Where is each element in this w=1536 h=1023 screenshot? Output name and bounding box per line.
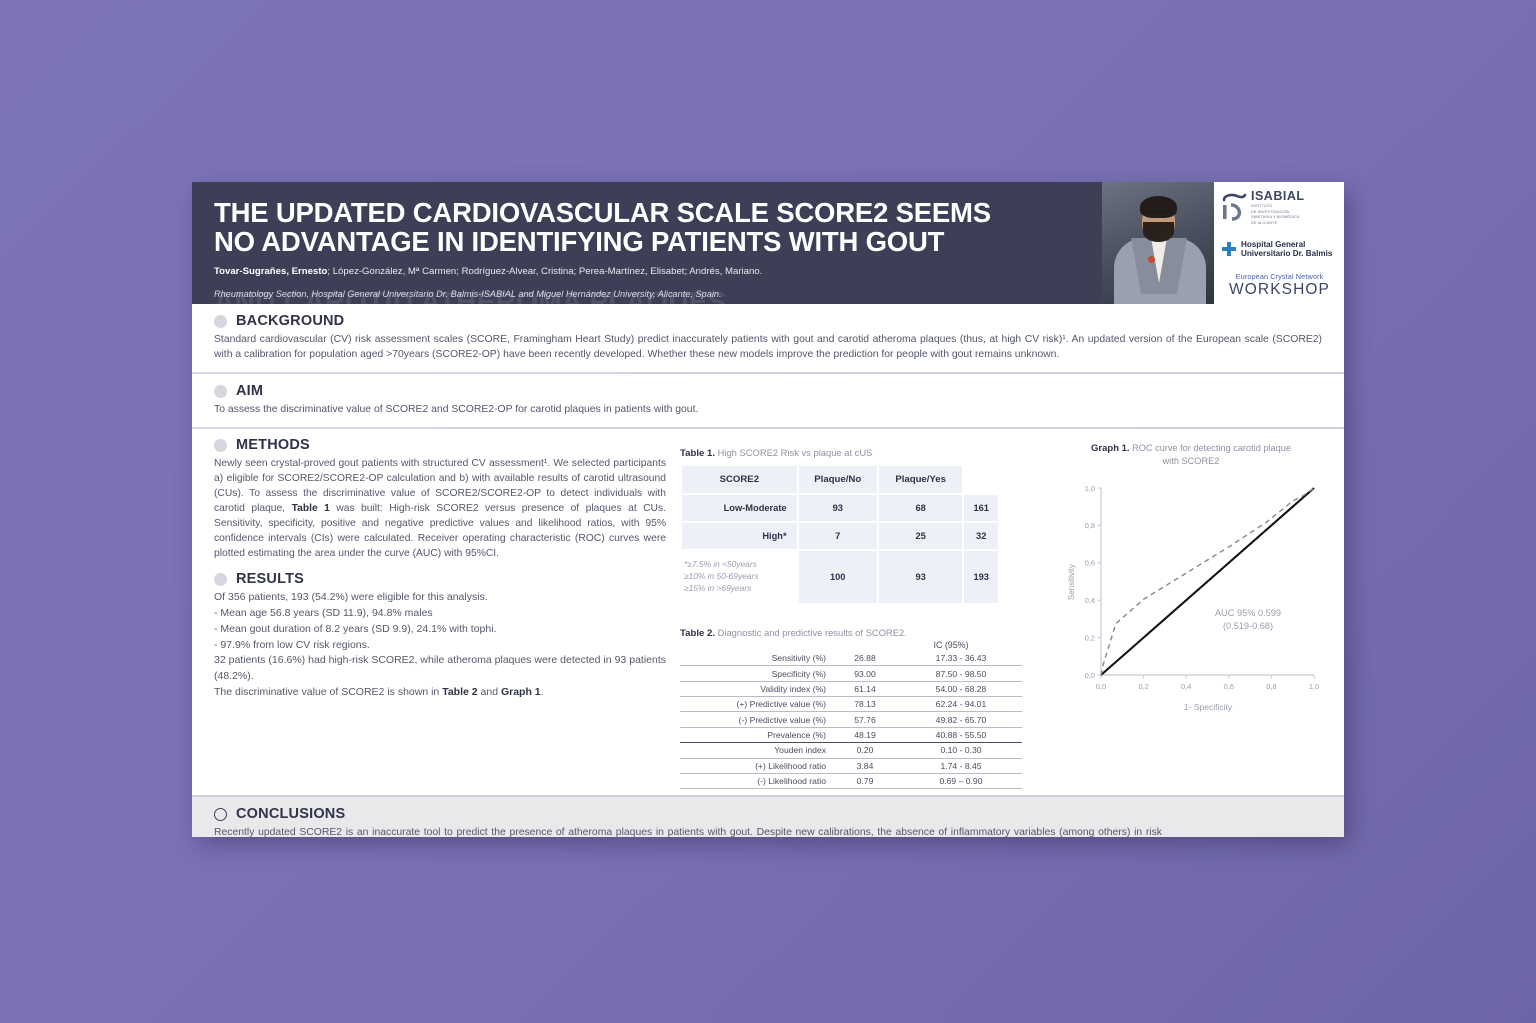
table-row: (-) Likelihood ratio 0.79 0.69 – 0.90 — [680, 773, 1022, 788]
auc-annotation-line1: AUC 95% 0.599 — [1215, 608, 1281, 618]
table2-caption: Table 2. Diagnostic and predictive resul… — [680, 627, 1032, 639]
table2-row8-ic: 0.69 – 0.90 — [900, 773, 1022, 788]
table2-row1-label: Specificity (%) — [680, 666, 830, 681]
table-row: Low-Moderate 93 68 161 — [682, 495, 998, 521]
table1-header-plaque-no: Plaque/No — [799, 466, 877, 493]
isabial-logo: ISABIAL INSTITUTO DE INVESTIGACIÓN SANIT… — [1221, 189, 1338, 226]
table1-total-yes: 93 — [879, 551, 963, 603]
results-heading: RESULTS — [214, 571, 666, 587]
svg-text:0,4: 0,4 — [1181, 682, 1191, 691]
results-line6-pre: The discriminative value of SCORE2 is sh… — [214, 686, 442, 698]
hospital-line1: Hospital General — [1241, 240, 1332, 249]
methods-table1-ref: Table 1 — [292, 503, 330, 514]
graph1-caption-text: ROC curve for detecting carotid plaque — [1130, 443, 1291, 453]
table-row: (-) Predictive value (%) 57.76 49.82 - 6… — [680, 712, 1022, 727]
table-row: SCORE2 Plaque/No Plaque/Yes — [682, 466, 998, 493]
table-row: (+) Predictive value (%) 78.13 62.24 - 9… — [680, 697, 1022, 712]
methods-title: METHODS — [236, 437, 310, 453]
table2-row2-label: Validity index (%) — [680, 681, 830, 696]
svg-text:0,2: 0,2 — [1085, 634, 1095, 643]
table1-total-no: 100 — [799, 551, 877, 603]
section-background: BACKGROUND Standard cardiovascular (CV) … — [192, 304, 1344, 372]
table2-ic-header: IC (95%) — [680, 640, 1022, 650]
table-row: Specificity (%) 93.00 87.50 - 98.50 — [680, 666, 1022, 681]
hospital-line2: Universitario Dr. Balmis — [1241, 249, 1332, 258]
x-axis-label: 1- Specificity — [1184, 702, 1233, 712]
table2-row7-ic: 1.74 - 8.45 — [900, 758, 1022, 773]
table2-caption-text: Diagnostic and predictive results of SCO… — [715, 627, 907, 638]
ecn-workshop-logo: European Crystal Network WORKSHOP — [1221, 272, 1338, 299]
table1-footnote: *≥7.5% in <50years ≥10% in 50-69years ≥1… — [682, 551, 797, 603]
table2-row7-value: 3.84 — [830, 758, 900, 773]
table2-row0-label: Sensitivity (%) — [680, 651, 830, 666]
isabial-subtitle: INSTITUTO DE INVESTIGACIÓN SANITARIA Y B… — [1251, 203, 1305, 226]
table2-row5-label: Prevalence (%) — [680, 727, 830, 742]
coauthors: ; López-González, Mª Carmen; Rodríguez-A… — [327, 266, 762, 277]
svg-text:0,2: 0,2 — [1138, 682, 1148, 691]
poster-title-line2: NO ADVANTAGE IN IDENTIFYING PATIENTS WIT… — [214, 227, 1092, 256]
aim-text: To assess the discriminative value of SC… — [214, 402, 1322, 417]
bullet-circle-outline-icon — [214, 808, 227, 821]
table2-row6-value: 0.20 — [830, 743, 900, 758]
isabial-mark-icon — [1221, 192, 1247, 222]
results-table2-ref: Table 2 — [442, 686, 477, 698]
table-row: Prevalence (%) 48.19 40.88 - 55.50 — [680, 727, 1022, 742]
table1-row1-yes: 68 — [879, 495, 963, 521]
table-row: (+) Likelihood ratio 3.84 1.74 - 8.45 — [680, 758, 1022, 773]
table2-row3-label: (+) Predictive value (%) — [680, 697, 830, 712]
graph1-caption-label: Graph 1. — [1091, 443, 1130, 454]
header-title-block: THE UPDATED CARDIOVASCULAR SCALE SCORE2 … — [192, 182, 1102, 304]
table2-diagnostic-results: Sensitivity (%) 26.88 17.33 - 36.43 Spec… — [680, 651, 1022, 789]
section-conclusions: CONCLUSIONS Recently updated SCORE2 is a… — [192, 795, 1344, 837]
table1-row1-total: 161 — [964, 495, 998, 521]
table1-row2-label: High* — [682, 523, 797, 549]
aim-heading: AIM — [214, 383, 1322, 399]
table2-row5-ic: 40.88 - 55.50 — [900, 727, 1022, 742]
table2-row3-value: 78.13 — [830, 697, 900, 712]
results-line-3: - Mean gout duration of 8.2 years (SD 9.… — [214, 622, 666, 638]
methods-heading: METHODS — [214, 437, 666, 453]
table2-row5-value: 48.19 — [830, 727, 900, 742]
table1-total-total: 193 — [964, 551, 998, 603]
table-row: Sensitivity (%) 26.88 17.33 - 36.43 — [680, 651, 1022, 666]
background-title: BACKGROUND — [236, 313, 344, 329]
results-graph1-ref: Graph 1 — [501, 686, 541, 698]
table-row: *≥7.5% in <50years ≥10% in 50-69years ≥1… — [682, 551, 998, 603]
table1-header-score2: SCORE2 — [682, 466, 797, 493]
table1-header-total — [964, 466, 998, 493]
table2-row6-label: Youden index — [680, 743, 830, 758]
auc-annotation-line2: (0.519-0.68) — [1223, 621, 1273, 631]
svg-text:0,6: 0,6 — [1085, 559, 1095, 568]
bullet-dot-icon — [214, 315, 227, 328]
svg-text:0,0: 0,0 — [1096, 682, 1106, 691]
main-content-area: METHODS Newly seen crystal-proved gout p… — [192, 429, 1344, 795]
results-line6-end: . — [541, 686, 544, 698]
results-line6-mid: and — [478, 686, 501, 698]
table1-caption: Table 1. High SCORE2 Risk vs plaque at c… — [680, 447, 1032, 459]
table-row: High* 7 25 32 — [682, 523, 998, 549]
graph1-caption-line2: with SCORE2 — [1046, 456, 1336, 468]
table2-row1-ic: 87.50 - 98.50 — [900, 666, 1022, 681]
table2-row4-label: (-) Predictive value (%) — [680, 712, 830, 727]
table2-row3-ic: 62.24 - 94.01 — [900, 697, 1022, 712]
ecn-workshop-label: WORKSHOP — [1221, 281, 1338, 299]
table2-row8-value: 0.79 — [830, 773, 900, 788]
author-list: Tovar-Sugrañes, Ernesto; López-González,… — [214, 266, 1092, 279]
background-text: Standard cardiovascular (CV) risk assess… — [214, 332, 1322, 363]
roc-curve-chart: 0,00,20,40,60,81,00,00,20,40,60,81,0 Sen… — [1046, 470, 1336, 725]
results-line-6: The discriminative value of SCORE2 is sh… — [214, 685, 666, 701]
table2-row4-value: 57.76 — [830, 712, 900, 727]
table2-row0-ic: 17.33 - 36.43 — [900, 651, 1022, 666]
hospital-name: Hospital General Universitario Dr. Balmi… — [1241, 240, 1332, 258]
roc-plot-svg: 0,00,20,40,60,81,00,00,20,40,60,81,0 Sen… — [1046, 470, 1336, 720]
desktop-background: THE UPDATED CARDIOVASCULAR SCALE SCORE2 … — [0, 0, 1536, 1023]
affiliation: Rheumatology Section, Hospital General U… — [214, 288, 1092, 300]
table2-row2-value: 61.14 — [830, 681, 900, 696]
table-row: Validity index (%) 61.14 54.00 - 68.28 — [680, 681, 1022, 696]
table2-row0-value: 26.88 — [830, 651, 900, 666]
author-photo — [1102, 182, 1214, 304]
table1-row1-label: Low-Moderate — [682, 495, 797, 521]
table1-row2-no: 7 — [799, 523, 877, 549]
poster-title-line1: THE UPDATED CARDIOVASCULAR SCALE SCORE2 … — [214, 198, 1092, 227]
isabial-name: ISABIAL — [1251, 189, 1305, 203]
table2-row6-ic: 0.10 - 0.30 — [900, 743, 1022, 758]
table2-row4-ic: 49.82 - 65.70 — [900, 712, 1022, 727]
table2-row8-label: (-) Likelihood ratio — [680, 773, 830, 788]
svg-text:0,0: 0,0 — [1085, 671, 1095, 680]
results-title: RESULTS — [236, 571, 304, 587]
table2-row2-ic: 54.00 - 68.28 — [900, 681, 1022, 696]
results-text: Of 356 patients, 193 (54.2%) were eligib… — [214, 590, 666, 700]
poster-header: THE UPDATED CARDIOVASCULAR SCALE SCORE2 … — [192, 182, 1344, 304]
table1-caption-label: Table 1. — [680, 448, 715, 459]
table2-caption-label: Table 2. — [680, 628, 715, 639]
table1-row2-total: 32 — [964, 523, 998, 549]
svg-text:0,8: 0,8 — [1266, 682, 1276, 691]
results-line-2: - Mean age 56.8 years (SD 11.9), 94.8% m… — [214, 606, 666, 622]
tables-column: Table 1. High SCORE2 Risk vs plaque at c… — [680, 437, 1032, 789]
lead-author: Tovar-Sugrañes, Ernesto — [214, 266, 327, 277]
svg-text:0,8: 0,8 — [1085, 522, 1095, 531]
conclusions-heading: CONCLUSIONS — [214, 806, 1322, 822]
graph1-caption: Graph 1. ROC curve for detecting carotid… — [1046, 443, 1336, 467]
methods-results-column: METHODS Newly seen crystal-proved gout p… — [214, 437, 666, 789]
svg-text:1,0: 1,0 — [1085, 484, 1095, 493]
conclusions-text: Recently updated SCORE2 is an inaccurate… — [214, 825, 1322, 837]
svg-text:0,4: 0,4 — [1085, 596, 1095, 605]
photo-lapel-pin — [1148, 256, 1155, 263]
table1-row2-yes: 25 — [879, 523, 963, 549]
logo-panel: ISABIAL INSTITUTO DE INVESTIGACIÓN SANIT… — [1214, 182, 1344, 304]
hospital-logo: Hospital General Universitario Dr. Balmi… — [1221, 240, 1338, 258]
results-line-5: 32 patients (16.6%) had high-risk SCORE2… — [214, 653, 666, 685]
aim-title: AIM — [236, 383, 263, 399]
graph-column: Graph 1. ROC curve for detecting carotid… — [1046, 437, 1336, 789]
background-heading: BACKGROUND — [214, 313, 1322, 329]
scientific-poster: THE UPDATED CARDIOVASCULAR SCALE SCORE2 … — [192, 182, 1344, 837]
table1-row1-no: 93 — [799, 495, 877, 521]
table2-row1-value: 93.00 — [830, 666, 900, 681]
y-axis-label: Sensitivity — [1067, 564, 1076, 600]
ecn-network-label: European Crystal Network — [1221, 272, 1338, 281]
medical-cross-icon — [1221, 241, 1237, 257]
bullet-dot-icon — [214, 385, 227, 398]
photo-beard — [1143, 222, 1174, 242]
results-line-1: Of 356 patients, 193 (54.2%) were eligib… — [214, 590, 666, 606]
isabial-text: ISABIAL INSTITUTO DE INVESTIGACIÓN SANIT… — [1251, 189, 1305, 226]
table1-score2-vs-plaque: SCORE2 Plaque/No Plaque/Yes Low-Moderate… — [680, 464, 1000, 605]
section-aim: AIM To assess the discriminative value o… — [192, 374, 1344, 426]
photo-glasses — [1143, 211, 1174, 218]
bullet-dot-icon — [214, 439, 227, 452]
table2-row7-label: (+) Likelihood ratio — [680, 758, 830, 773]
table1-header-plaque-yes: Plaque/Yes — [879, 466, 963, 493]
svg-text:0,6: 0,6 — [1224, 682, 1234, 691]
table-row: Youden index 0.20 0.10 - 0.30 — [680, 743, 1022, 758]
svg-text:1,0: 1,0 — [1309, 682, 1319, 691]
bullet-dot-icon — [214, 573, 227, 586]
table1-caption-text: High SCORE2 Risk vs plaque at cUS — [715, 447, 872, 458]
roc-reference-line — [1101, 488, 1314, 675]
results-line-4: - 97.9% from low CV risk regions. — [214, 638, 666, 654]
conclusions-title: CONCLUSIONS — [236, 806, 345, 822]
methods-text: Newly seen crystal-proved gout patients … — [214, 456, 666, 561]
